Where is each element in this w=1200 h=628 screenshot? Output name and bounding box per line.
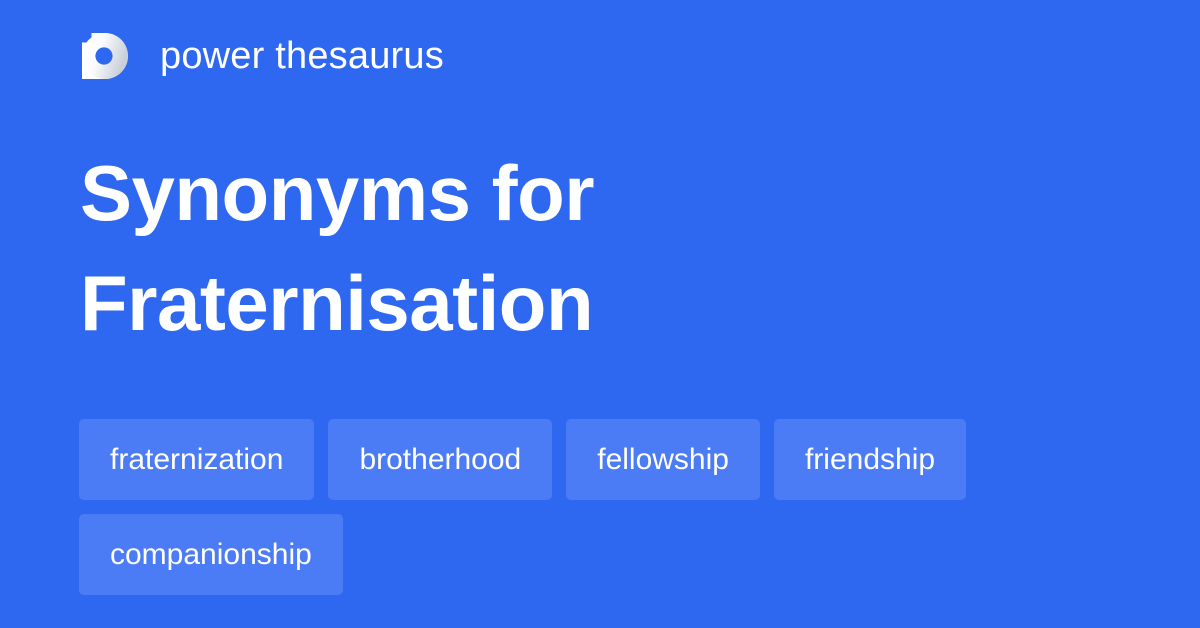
synonym-chip[interactable]: brotherhood — [328, 419, 552, 500]
page-title: Synonyms for Fraternisation — [80, 138, 1120, 358]
synonym-chip[interactable]: friendship — [774, 419, 966, 500]
page-title-line-2: Fraternisation — [80, 248, 1120, 358]
synonym-chip[interactable]: companionship — [79, 514, 343, 595]
page-title-line-1: Synonyms for — [80, 138, 1120, 248]
synonym-chip[interactable]: fraternization — [79, 419, 314, 500]
synonym-chip[interactable]: fellowship — [566, 419, 760, 500]
synonyms-card: power thesaurus Synonyms for Fraternisat… — [0, 0, 1200, 628]
brand-header[interactable]: power thesaurus — [82, 28, 444, 84]
synonym-list: fraternization brotherhood fellowship fr… — [79, 419, 1124, 595]
power-thesaurus-b-logo-icon — [82, 33, 128, 79]
brand-wordmark: power thesaurus — [160, 33, 444, 79]
